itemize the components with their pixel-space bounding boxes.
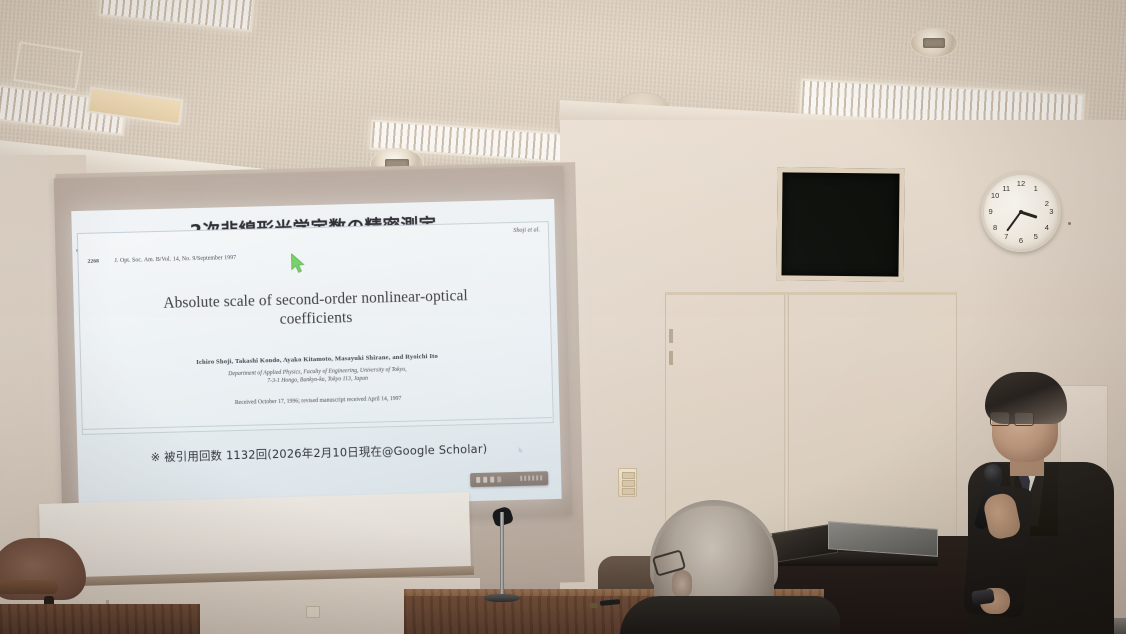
paper-title: Absolute scale of second-order nonlinear… [103, 285, 528, 335]
presenter-glasses [990, 412, 1034, 425]
downlight-inner [923, 38, 945, 48]
glasses-lens-right [1014, 412, 1034, 426]
light-switch-plate[interactable] [618, 468, 637, 497]
light-switch[interactable] [622, 480, 635, 487]
clock-numeral: 4 [1041, 223, 1053, 232]
light-switch[interactable] [622, 472, 635, 479]
chair-armrest [0, 580, 58, 594]
glasses-lens-left [990, 412, 1010, 426]
toolbar-icon-3[interactable] [490, 477, 494, 483]
paper-title-line-1: Absolute scale of second-order nonlinear… [163, 287, 468, 312]
clock-numeral: 6 [1015, 236, 1027, 245]
citation-note: ※ 被引用回数 1132回(2026年2月10日現在@Google Schola… [77, 439, 560, 467]
wall-socket [306, 606, 320, 618]
door-hinge [669, 351, 673, 365]
microphone-stand [500, 512, 504, 598]
microphone-capsule [984, 464, 1002, 482]
clock-numeral: 3 [1045, 207, 1057, 216]
toolbar-icon-1[interactable] [476, 477, 480, 483]
clock-numeral: 11 [1000, 184, 1012, 193]
clock-numeral: 9 [985, 207, 997, 216]
clock-numeral: 5 [1030, 232, 1042, 241]
presenter [952, 366, 1126, 634]
ceiling-downlight-2 [910, 28, 958, 58]
paper-affiliation-line-2: 7-3-1 Hongo, Bunkyo-ku, Tokyo 113, Japan [267, 376, 368, 385]
projected-slide: 2次非線形光学定数の精密測定 Shoji et al. 2268 J. Opt.… [71, 199, 561, 511]
secondary-cursor-icon [518, 447, 523, 454]
clock-numeral: 8 [989, 223, 1001, 232]
projection-booth-window [776, 167, 904, 281]
desk-front-left [0, 604, 200, 634]
paper-affiliation-line-1: Department of Applied Physics, Faculty o… [228, 367, 406, 378]
clock-numeral: 7 [1000, 232, 1012, 241]
clock-numeral: 12 [1015, 179, 1027, 188]
wall-clock: 12 1 2 3 4 5 6 7 8 9 10 11 [981, 172, 1061, 252]
paper-runhead: Shoji et al. [513, 226, 540, 234]
clock-numeral: 1 [1030, 184, 1042, 193]
presentation-toolbar[interactable] [470, 471, 548, 487]
paper-figure: Shoji et al. 2268 J. Opt. Soc. Am. B/Vol… [77, 221, 554, 435]
paper-title-line-2: coefficients [280, 309, 353, 328]
clock-hub [1019, 210, 1023, 214]
clock-minute-hand [1006, 211, 1022, 231]
door-hinge [669, 329, 673, 343]
lecture-hall-scene: 12 1 2 3 4 5 6 7 8 9 10 11 2次非線形光学定数の精密測… [0, 0, 1126, 634]
wall-marking [1068, 222, 1071, 225]
small-object-on-desk[interactable] [589, 603, 598, 608]
microphone-base [484, 594, 520, 602]
light-switch[interactable] [622, 488, 635, 495]
green-arrow-cursor [290, 253, 307, 273]
desk-grain [0, 604, 200, 634]
audience-ear [672, 570, 692, 598]
toolbar-icon-4[interactable] [497, 476, 501, 482]
paper-journal-line: J. Opt. Soc. Am. B/Vol. 14, No. 9/Septem… [114, 255, 236, 264]
paper-received-date: Received October 17, 1996; revised manus… [106, 393, 530, 410]
toolbar-icon-2[interactable] [483, 477, 487, 483]
paper-folio: 2268 [87, 258, 99, 264]
toolbar-label [520, 475, 542, 481]
audience-shoulders [620, 596, 840, 634]
